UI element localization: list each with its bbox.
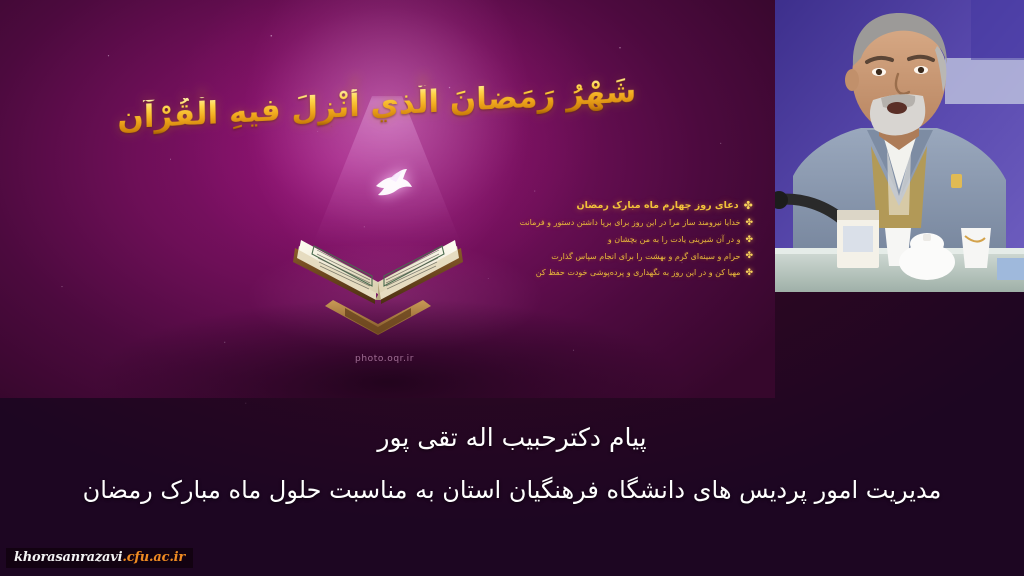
ramadan-poster: شَهْرُ رَمَضانَ الَّذي أُنْزِلَ فيهِ الْ…: [0, 0, 775, 398]
site-watermark: khorasanrazavi.cfu.ac.ir: [6, 548, 193, 568]
flower-bullet-icon: ✤: [745, 219, 753, 228]
prayer-title-row: ✤ دعای روز چهارم ماه مبارک رمضان: [443, 200, 753, 211]
prayer-line: ✤ و در آن شیرینی یادت را به من بچشان و: [443, 235, 753, 246]
flower-bullet-icon: ✤: [745, 236, 753, 245]
caption-line-1: پیام دکترحبیب اله تقی پور: [0, 422, 1024, 453]
prayer-line-text: و در آن شیرینی یادت را به من بچشان و: [608, 235, 741, 246]
caption-block: پیام دکترحبیب اله تقی پور مدیریت امور پر…: [0, 412, 1024, 532]
prayer-line: ✤ حرام و سینه‌ای گرم و بهشت را برای انجا…: [443, 252, 753, 263]
flower-bullet-icon: ✤: [745, 269, 753, 278]
prayer-line-text: خدایا نیرومند ساز مرا در این روز برای بر…: [520, 218, 741, 229]
speaker-photo: [775, 0, 1024, 292]
calligraphy-text: شَهْرُ رَمَضانَ الَّذي أُنْزِلَ فيهِ الْ…: [117, 75, 637, 138]
prayer-title: دعای روز چهارم ماه مبارک رمضان: [576, 200, 738, 211]
arabic-calligraphy: شَهْرُ رَمَضانَ الَّذي أُنْزِلَ فيهِ الْ…: [232, 52, 522, 160]
prayer-line-text: حرام و سینه‌ای گرم و بهشت را برای انجام …: [551, 252, 740, 263]
dove-icon: [372, 166, 414, 200]
flower-bullet-icon: ✤: [744, 200, 753, 211]
flower-bullet-icon: ✤: [745, 252, 753, 261]
slide-canvas: شَهْرُ رَمَضانَ الَّذي أُنْزِلَ فيهِ الْ…: [0, 0, 1024, 576]
prayer-line: ✤ خدایا نیرومند ساز مرا در این روز برای …: [443, 218, 753, 229]
prayer-line-text: مهیا کن و در این روز به نگهداری و پرده‌پ…: [536, 268, 741, 279]
caption-line-2: مدیریت امور پردیس های دانشگاه فرهنگیان ا…: [0, 475, 1024, 505]
watermark-domain: .cfu.ac.ir: [122, 550, 185, 565]
watermark-site-name: khorasanrazavi: [14, 550, 122, 565]
prayer-text-block: ✤ دعای روز چهارم ماه مبارک رمضان ✤ خدایا…: [443, 200, 753, 285]
poster-source-watermark: photo.oqr.ir: [355, 354, 414, 364]
prayer-line: ✤ مهیا کن و در این روز به نگهداری و پرده…: [443, 268, 753, 279]
